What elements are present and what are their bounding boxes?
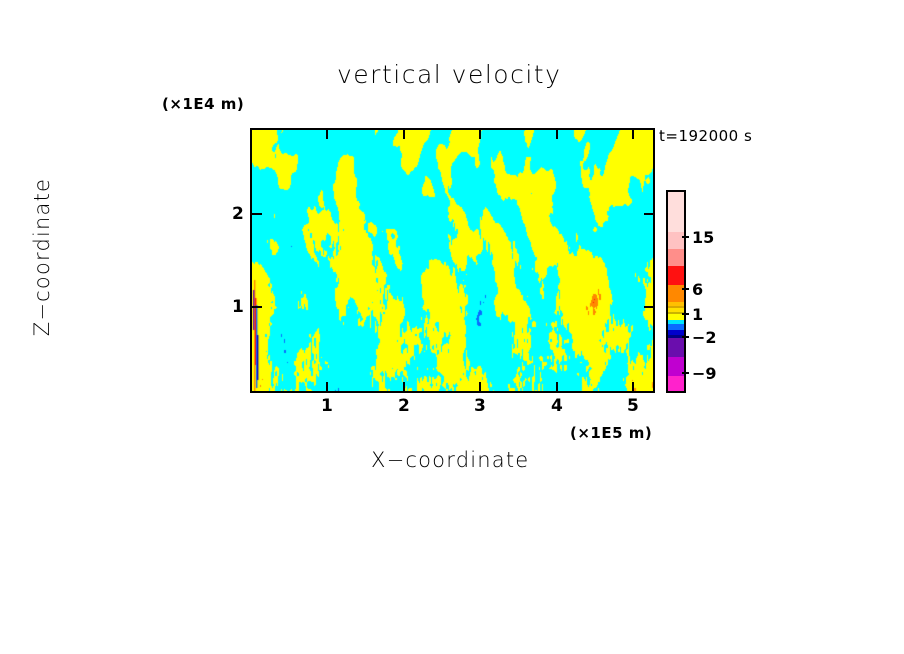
colorbar-label: −2 — [692, 328, 717, 347]
colorbar-band — [668, 232, 684, 249]
x-tickmark — [479, 382, 481, 393]
y-tickmark-right — [644, 306, 653, 308]
x-axis-unit-label: (×1E5 m) — [570, 424, 652, 442]
x-tickmark-top — [632, 130, 634, 139]
colorbar-band — [668, 192, 684, 232]
figure-canvas: vertical velocity (×1E4 m) t=192000 s 1 … — [0, 0, 904, 654]
y-axis-unit-label: (×1E4 m) — [162, 95, 244, 113]
colorbar-tickmark — [682, 372, 689, 374]
y-tick-label: 1 — [232, 297, 244, 317]
x-tickmark — [326, 382, 328, 393]
x-tick-label: 2 — [398, 396, 410, 416]
y-tickmark — [251, 306, 262, 308]
page-title: vertical velocity — [337, 60, 561, 89]
x-tick-label: 1 — [321, 396, 333, 416]
colorbar-band — [668, 266, 684, 285]
colorbar-tickmark — [682, 336, 689, 338]
colorbar-tickmark — [682, 236, 689, 238]
x-tickmark — [556, 382, 558, 393]
colorbar-tickmark — [682, 313, 689, 315]
x-tickmark-top — [556, 130, 558, 139]
x-tick-label: 3 — [474, 396, 486, 416]
x-tickmark-top — [403, 130, 405, 139]
timestamp-annotation: t=192000 s — [659, 127, 752, 145]
x-axis-title: X−coordinate — [371, 448, 529, 472]
x-tickmark — [403, 382, 405, 393]
x-tickmark-top — [479, 130, 481, 139]
x-tick-label: 4 — [551, 396, 563, 416]
contour-plot-area[interactable] — [250, 128, 655, 393]
colorbar-label: 15 — [692, 228, 714, 247]
y-tick-label: 2 — [232, 204, 244, 224]
colorbar-tickmark — [682, 288, 689, 290]
y-tickmark — [251, 213, 262, 215]
colorbar-label: 1 — [692, 305, 703, 324]
colorbar-band — [668, 376, 684, 391]
colorbar-label: −9 — [692, 364, 717, 383]
velocity-field-image — [252, 130, 655, 393]
y-axis-title: Z−coordinate — [30, 157, 54, 357]
colorbar[interactable] — [666, 190, 686, 393]
x-tick-label: 5 — [627, 396, 639, 416]
colorbar-band — [668, 338, 684, 357]
y-tickmark-right — [644, 213, 653, 215]
colorbar-label: 6 — [692, 280, 703, 299]
x-tickmark — [632, 382, 634, 393]
x-tickmark-top — [326, 130, 328, 139]
colorbar-band — [668, 249, 684, 266]
